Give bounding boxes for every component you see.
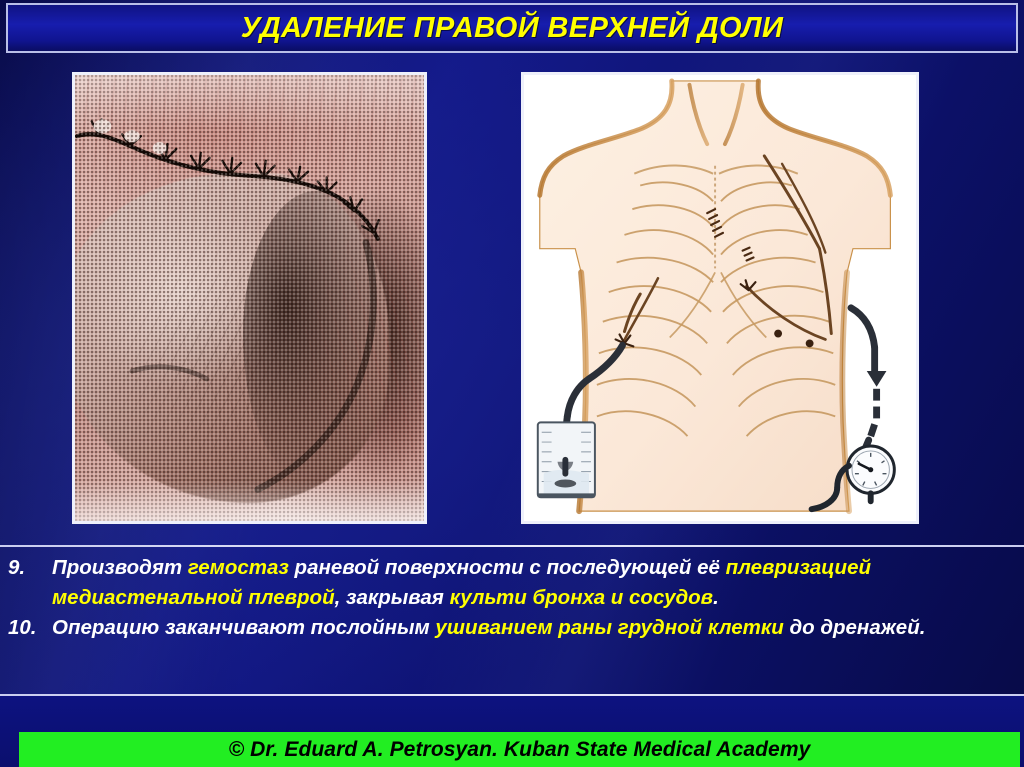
body-text-run: раневой поверхности с последующей её	[289, 556, 726, 579]
photo-paper-edge	[75, 75, 424, 521]
list-item: 9. Производят гемостаз раневой поверхнос…	[0, 553, 1024, 613]
list-item-text: Операцию заканчивают послойным ушиванием…	[52, 613, 1024, 643]
figure-sutured-lung-photograph	[72, 72, 427, 524]
divider-above-footer	[0, 694, 1024, 696]
list-item-number: 9.	[0, 553, 52, 583]
highlighted-term: ушиванием раны грудной клетки	[435, 616, 783, 639]
body-text-run: до дренажей.	[784, 616, 926, 639]
footer-credit-bar: © Dr. Eduard A. Petrosyan. Kuban State M…	[19, 732, 1020, 767]
body-text-run: .	[713, 586, 719, 609]
body-text-run: Производят	[52, 556, 188, 579]
slide-title-bar: УДАЛЕНИЕ ПРАВОЙ ВЕРХНЕЙ ДОЛИ	[6, 3, 1018, 53]
page-title: УДАЛЕНИЕ ПРАВОЙ ВЕРХНЕЙ ДОЛИ	[241, 12, 783, 45]
footer-credit-text: © Dr. Eduard A. Petrosyan. Kuban State M…	[229, 738, 811, 762]
water-seal-jar	[538, 422, 595, 497]
sutured-lung-image	[75, 75, 424, 521]
slide-root: УДАЛЕНИЕ ПРАВОЙ ВЕРХНЕЙ ДОЛИ	[0, 0, 1024, 767]
figure-chest-drainage-illustration	[521, 72, 919, 524]
list-item-number: 10.	[0, 613, 52, 643]
list-item: 10. Операцию заканчивают послойным ушива…	[0, 613, 1024, 643]
chest-drainage-image	[524, 75, 916, 521]
slide-body-text: 9. Производят гемостаз раневой поверхнос…	[0, 553, 1024, 691]
highlighted-term: культи бронха и сосудов	[450, 586, 714, 609]
list-item-text: Производят гемостаз раневой поверхности …	[52, 553, 1024, 613]
torso-drawing	[524, 75, 916, 521]
highlighted-term: гемостаз	[188, 556, 289, 579]
body-text-run: Операцию заканчивают послойным	[52, 616, 435, 639]
body-text-run: , закрывая	[335, 586, 450, 609]
divider-above-text	[0, 545, 1024, 547]
